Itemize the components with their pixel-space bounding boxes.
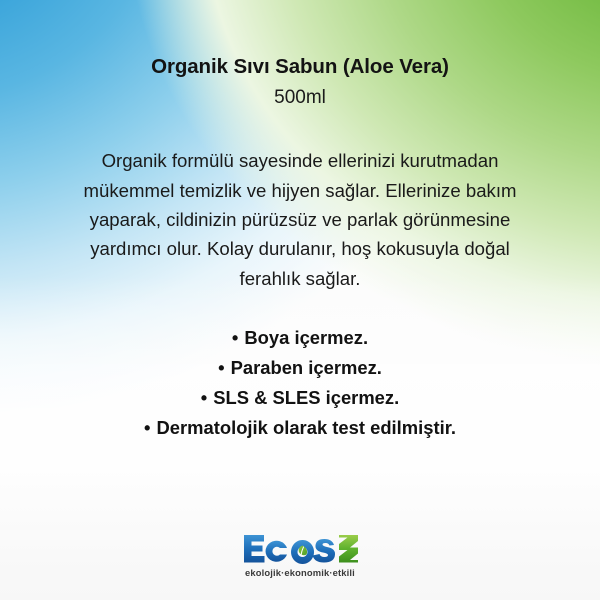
product-description: Organik formülü sayesinde ellerinizi kur… xyxy=(66,146,534,293)
logo-letter-e xyxy=(244,535,265,563)
bullet-icon: • xyxy=(144,413,150,443)
feature-label: Paraben içermez. xyxy=(231,357,382,378)
bullet-icon: • xyxy=(201,383,207,413)
bullet-icon: • xyxy=(232,323,238,353)
ecos3-logo-icon xyxy=(241,533,359,566)
brand-tagline: ekolojik·ekonomik·etkili xyxy=(0,567,600,578)
logo-numeral-3 xyxy=(339,535,358,563)
product-title: Organik Sıvı Sabun (Aloe Vera) xyxy=(44,54,556,80)
brand-logo: ekolojik·ekonomik·etkili xyxy=(0,533,600,578)
feature-list-item: •Boya içermez. xyxy=(44,323,556,353)
feature-list: •Boya içermez. •Paraben içermez. •SLS & … xyxy=(44,323,556,442)
bullet-icon: • xyxy=(218,353,224,383)
product-info-card: Organik Sıvı Sabun (Aloe Vera) 500ml Org… xyxy=(0,0,600,600)
logo-letter-s xyxy=(313,539,336,563)
feature-label: Boya içermez. xyxy=(244,327,368,348)
feature-list-item: •Paraben içermez. xyxy=(44,353,556,383)
product-volume: 500ml xyxy=(44,86,556,111)
feature-list-item: •SLS & SLES içermez. xyxy=(44,383,556,413)
card-content: Organik Sıvı Sabun (Aloe Vera) 500ml Org… xyxy=(0,0,600,600)
feature-label: SLS & SLES içermez. xyxy=(213,387,399,408)
logo-letter-c xyxy=(266,541,287,562)
feature-list-item: •Dermatolojik olarak test edilmiştir. xyxy=(44,413,556,443)
feature-label: Dermatolojik olarak test edilmiştir. xyxy=(156,417,455,438)
